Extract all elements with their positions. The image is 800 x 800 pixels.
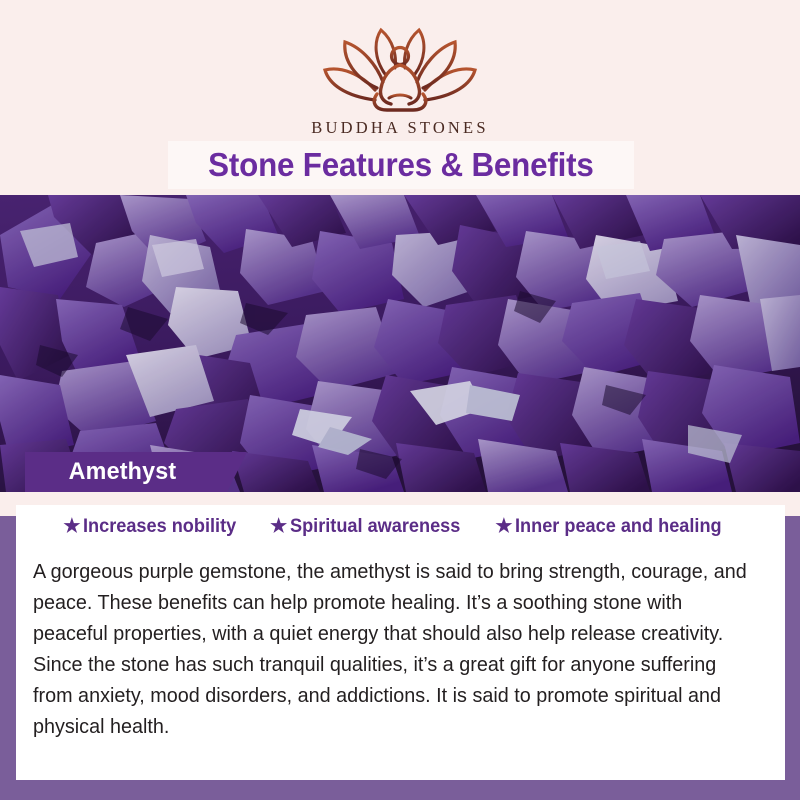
feature-item-1: ★ Increases nobility — [63, 515, 248, 538]
infographic-page: BUDDHA STONES Stone Features & Benefits — [0, 0, 800, 800]
stone-label: Amethyst — [69, 458, 177, 486]
frame-left — [0, 495, 16, 800]
title-strip: Stone Features & Benefits — [168, 141, 634, 189]
frame-bottom — [0, 780, 800, 800]
brand-name: BUDDHA STONES — [0, 118, 800, 138]
crystal-texture — [0, 195, 800, 492]
header: BUDDHA STONES Stone Features & Benefits — [0, 0, 800, 196]
page-title: Stone Features & Benefits — [208, 146, 593, 184]
feature-label: Inner peace and healing — [515, 515, 722, 538]
brand-logo: BUDDHA STONES — [0, 22, 800, 138]
feature-item-3: ★ Inner peace and healing — [495, 515, 737, 538]
amethyst-crystal-cluster-photo — [0, 195, 800, 492]
feature-list: ★ Increases nobility ★ Spiritual awarene… — [16, 515, 785, 538]
star-icon: ★ — [63, 517, 80, 536]
feature-label: Spiritual awareness — [290, 515, 460, 538]
feature-item-2: ★ Spiritual awareness — [270, 515, 473, 538]
star-icon: ★ — [495, 517, 512, 536]
star-icon: ★ — [270, 517, 287, 536]
lotus-meditation-figure-icon — [315, 22, 485, 114]
stone-description: A gorgeous purple gemstone, the amethyst… — [33, 556, 752, 742]
feature-label: Increases nobility — [83, 515, 236, 538]
stone-label-banner: Amethyst — [25, 452, 247, 492]
